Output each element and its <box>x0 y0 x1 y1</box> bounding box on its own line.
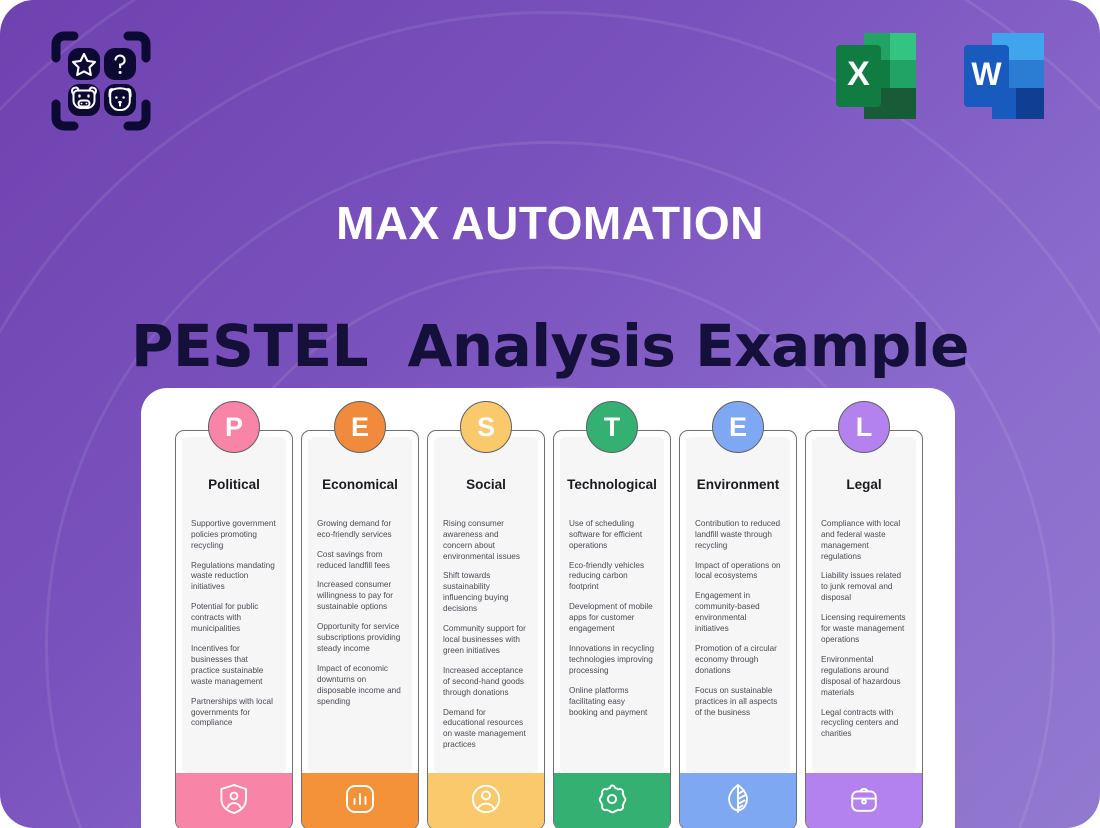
leaf-icon <box>721 782 755 821</box>
column-content: EconomicalGrowing demand for eco-friendl… <box>308 437 412 773</box>
column-footer-gear-icon <box>554 773 670 828</box>
bar-chart-icon <box>343 782 377 821</box>
column-footer-shield-person-icon <box>176 773 292 828</box>
list-item: Promotion of a circular economy through … <box>695 644 781 677</box>
list-item: Partnerships with local governments for … <box>191 697 277 730</box>
column-letter-badge: T <box>586 401 638 453</box>
list-item: Regulations mandating waste reduction in… <box>191 561 277 594</box>
list-item: Rising consumer awareness and concern ab… <box>443 519 529 563</box>
list-item: Incentives for businesses that practice … <box>191 644 277 688</box>
column-content: TechnologicalUse of scheduling software … <box>560 437 664 773</box>
pestel-columns: PPoliticalSupportive government policies… <box>175 430 923 828</box>
column-heading: Political <box>182 478 286 493</box>
column-footer-bar-chart-icon <box>302 773 418 828</box>
column-heading: Technological <box>560 478 664 493</box>
list-item: Environmental regulations around disposa… <box>821 655 907 699</box>
microsoft-excel-icon: X <box>826 27 926 125</box>
svg-text:X: X <box>847 55 870 93</box>
column-content: SocialRising consumer awareness and conc… <box>434 437 538 773</box>
column-content: LegalCompliance with local and federal w… <box>812 437 916 773</box>
list-item: Potential for public contracts with muni… <box>191 602 277 635</box>
column-footer-leaf-icon <box>680 773 796 828</box>
column-footer-user-circle-icon <box>428 773 544 828</box>
max-automation-scan-logo <box>48 28 154 134</box>
column-heading: Legal <box>812 478 916 493</box>
pestel-column-political: PPoliticalSupportive government policies… <box>175 430 293 828</box>
list-item: Liability issues related to junk removal… <box>821 571 907 604</box>
list-item: Eco-friendly vehicles reducing carbon fo… <box>569 561 655 594</box>
microsoft-word-icon: W <box>954 27 1054 125</box>
list-item: Shift towards sustainability influencing… <box>443 571 529 615</box>
shield-person-icon <box>217 782 251 821</box>
column-heading: Economical <box>308 478 412 493</box>
list-item: Licensing requirements for waste managem… <box>821 613 907 646</box>
list-item: Impact of operations on local ecosystems <box>695 561 781 583</box>
list-item: Growing demand for eco-friendly services <box>317 519 403 541</box>
list-item: Development of mobile apps for customer … <box>569 602 655 635</box>
list-item: Demand for educational resources on wast… <box>443 708 529 752</box>
pestel-column-technological: TTechnologicalUse of scheduling software… <box>553 430 671 828</box>
column-letter-badge: L <box>838 401 890 453</box>
slide-root: X W MAX AUTOMATION PESTEL Analysis Examp… <box>0 0 1100 828</box>
column-heading: Social <box>434 478 538 493</box>
list-item: Innovations in recycling technologies im… <box>569 644 655 677</box>
column-item-list: Use of scheduling software for efficient… <box>560 519 664 719</box>
column-heading: Environment <box>686 478 790 493</box>
column-item-list: Growing demand for eco-friendly services… <box>308 519 412 708</box>
user-circle-icon <box>469 782 503 821</box>
column-item-list: Compliance with local and federal waste … <box>812 519 916 740</box>
list-item: Supportive government policies promoting… <box>191 519 277 552</box>
pestel-column-environment: EEnvironmentContribution to reduced land… <box>679 430 797 828</box>
list-item: Increased consumer willingness to pay fo… <box>317 580 403 613</box>
list-item: Focus on sustainable practices in all as… <box>695 686 781 719</box>
page-title: PESTEL Analysis Example <box>0 312 1100 380</box>
pestel-card: PPoliticalSupportive government policies… <box>141 388 955 828</box>
column-item-list: Rising consumer awareness and concern ab… <box>434 519 538 751</box>
list-item: Cost savings from reduced landfill fees <box>317 550 403 572</box>
list-item: Compliance with local and federal waste … <box>821 519 907 563</box>
list-item: Increased acceptance of second-hand good… <box>443 666 529 699</box>
svg-text:W: W <box>971 56 1002 92</box>
list-item: Community support for local businesses w… <box>443 624 529 657</box>
column-letter-badge: S <box>460 401 512 453</box>
column-content: PoliticalSupportive government policies … <box>182 437 286 773</box>
list-item: Contribution to reduced landfill waste t… <box>695 519 781 552</box>
briefcase-icon <box>847 782 881 821</box>
gear-icon <box>595 782 629 821</box>
list-item: Use of scheduling software for efficient… <box>569 519 655 552</box>
brand-title: MAX AUTOMATION <box>0 196 1100 250</box>
column-letter-badge: E <box>712 401 764 453</box>
column-content: EnvironmentContribution to reduced landf… <box>686 437 790 773</box>
column-letter-badge: E <box>334 401 386 453</box>
pestel-column-social: SSocialRising consumer awareness and con… <box>427 430 545 828</box>
list-item: Legal contracts with recycling centers a… <box>821 708 907 741</box>
pestel-column-economical: EEconomicalGrowing demand for eco-friend… <box>301 430 419 828</box>
column-letter-badge: P <box>208 401 260 453</box>
column-item-list: Contribution to reduced landfill waste t… <box>686 519 790 719</box>
column-footer-briefcase-icon <box>806 773 922 828</box>
office-icons-group: X W <box>826 27 1054 125</box>
list-item: Impact of economic downturns on disposab… <box>317 664 403 708</box>
column-item-list: Supportive government policies promoting… <box>182 519 286 730</box>
list-item: Online platforms facilitating easy booki… <box>569 686 655 719</box>
list-item: Engagement in community-based environmen… <box>695 591 781 635</box>
list-item: Opportunity for service subscriptions pr… <box>317 622 403 655</box>
pestel-column-legal: LLegalCompliance with local and federal … <box>805 430 923 828</box>
